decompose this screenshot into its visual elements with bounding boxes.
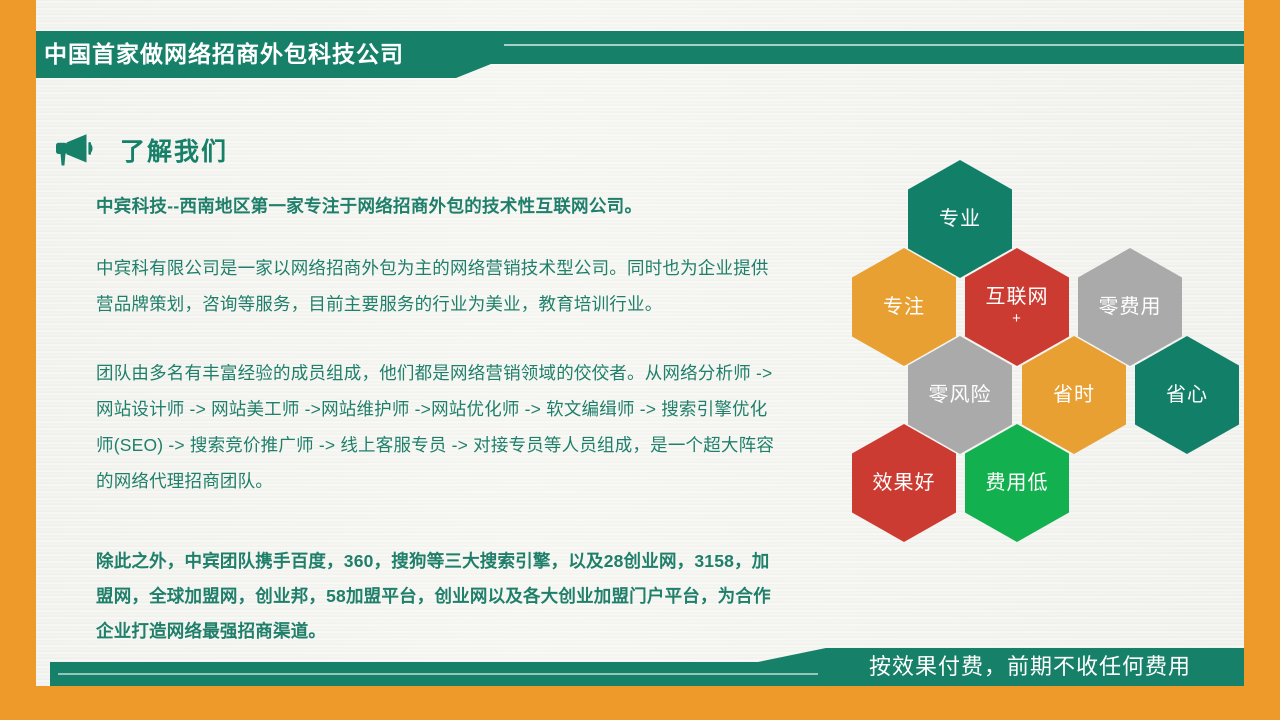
company-description-paragraph: 中宾科有限公司是一家以网络招商外包为主的网络营销技术型公司。同时也为企业提供营品… bbox=[96, 250, 780, 322]
hexagon-label: 互联网 bbox=[986, 287, 1049, 308]
header-divider-line bbox=[504, 44, 1244, 46]
hexagon-label: 专注 bbox=[883, 297, 925, 318]
hexagon-sublabel: + bbox=[1012, 310, 1022, 328]
team-description-paragraph: 团队由多名有丰富经验的成员组成，他们都是网络营销领域的佼佼者。从网络分析师 ->… bbox=[96, 355, 780, 499]
hexagon-label: 零费用 bbox=[1099, 297, 1162, 318]
slide-canvas: 中国首家做网络招商外包科技公司 了解我们 中宾科技--西南地区第一家专注于网络招… bbox=[0, 0, 1280, 720]
bottom-orange-strip bbox=[36, 686, 1244, 720]
lead-statement: 中宾科技--西南地区第一家专注于网络招商外包的技术性互联网公司。 bbox=[96, 193, 780, 219]
hexagon-label: 专业 bbox=[939, 209, 981, 230]
footer-slogan: 按效果付费，前期不收任何费用 bbox=[816, 648, 1244, 686]
partners-paragraph: 除此之外，中宾团队携手百度，360，搜狗等三大搜索引擎，以及28创业网，3158… bbox=[96, 544, 780, 649]
hexagon-label: 效果好 bbox=[873, 473, 936, 494]
header-banner-thin-block bbox=[456, 31, 1244, 64]
hexagon-label: 省心 bbox=[1166, 385, 1208, 406]
footer-banner: 按效果付费，前期不收任何费用 bbox=[36, 648, 1244, 686]
hexagon-label: 费用低 bbox=[986, 473, 1049, 494]
section-heading-label: 了解我们 bbox=[120, 132, 228, 168]
footer-divider-line bbox=[58, 673, 818, 675]
page-title: 中国首家做网络招商外包科技公司 bbox=[44, 33, 464, 75]
hexagon-label: 零风险 bbox=[929, 385, 992, 406]
megaphone-icon bbox=[52, 132, 96, 168]
hexagon-label: 省时 bbox=[1053, 385, 1095, 406]
advantages-hexagon-cluster: 专业专注互联网+零费用零风险省时省心效果好费用低 bbox=[840, 160, 1240, 540]
section-heading: 了解我们 bbox=[52, 132, 228, 168]
